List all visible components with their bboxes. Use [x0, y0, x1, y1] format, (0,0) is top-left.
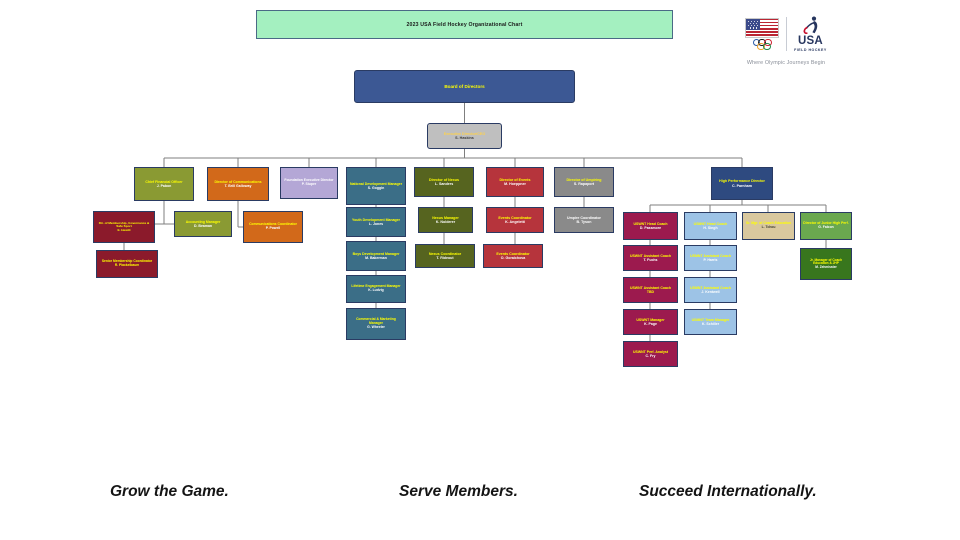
- org-node-person: P. Stuper: [302, 183, 316, 187]
- org-node-nexusc[interactable]: Nexus CoordinatorT. Rideout: [415, 244, 475, 268]
- org-node-board[interactable]: Board of Directors: [354, 70, 575, 103]
- org-node-person: K. Angeletti: [505, 220, 525, 224]
- org-node-mnt1[interactable]: USMNT Head CoachH. Singh: [684, 212, 737, 240]
- org-node-person: O. Goraichova: [501, 256, 526, 260]
- org-node-title: Board of Directors: [444, 84, 484, 89]
- org-node-wnt3[interactable]: USWNT Assistant CoachTBD: [623, 277, 678, 303]
- org-node-person: K. Ludvig: [368, 289, 383, 293]
- org-node-person: G. Falcon: [818, 226, 833, 230]
- org-node-person: D. Passmore: [640, 226, 661, 230]
- tagline-3: Succeed Internationally.: [639, 483, 817, 501]
- org-node-person: S. Rapaport: [574, 182, 594, 186]
- org-node-ceo[interactable]: Executive Director/CEOS. Haskins: [427, 123, 502, 149]
- org-node-person: P. Harris: [704, 258, 718, 262]
- org-node-evc2[interactable]: Events CoordinatorO. Goraichova: [483, 244, 543, 268]
- org-node-wnt5[interactable]: USWNT Perf. AnalystC. Fry: [623, 341, 678, 367]
- org-node-umpc[interactable]: Umpire CoordinatorB. Tyson: [554, 207, 614, 233]
- org-node-person: L. Jones: [369, 222, 383, 226]
- org-node-person: K. Nolderer: [436, 220, 455, 224]
- org-node-person: H. Singh: [703, 226, 717, 230]
- org-node-person: M. Zehmisster: [815, 266, 836, 270]
- org-node-found[interactable]: Foundation Executive DirectorP. Stuper: [280, 167, 338, 199]
- org-node-person: D. Beaman: [194, 224, 212, 228]
- org-node-person: K. Page: [644, 322, 657, 326]
- org-node-wnt1[interactable]: USWNT Head CoachD. Passmore: [623, 212, 678, 240]
- org-node-wnt2[interactable]: USWNT Assistant CoachT. Fuchs: [623, 245, 678, 271]
- org-node-person: C. Parnham: [732, 184, 752, 188]
- org-node-person: C. Fry: [646, 354, 656, 358]
- org-node-life[interactable]: Lifetime Engagement ManagerK. Ludvig: [346, 275, 406, 303]
- org-node-person: S. Goggin: [368, 186, 385, 190]
- org-node-person: TBD: [647, 290, 654, 294]
- org-node-evc1[interactable]: Events CoordinatorK. Angeletti: [486, 207, 544, 233]
- org-node-jhp1[interactable]: Director of Junior High Perf.G. Falcon: [800, 212, 852, 240]
- org-node-memb[interactable]: Dir. of Membership, Governance & Safe Sp…: [93, 211, 155, 243]
- tagline-1: Grow the Game.: [110, 483, 229, 501]
- org-node-nexusm[interactable]: Nexus ManagerK. Nolderer: [418, 207, 473, 233]
- org-node-person: G. Wheeler: [367, 326, 385, 330]
- org-node-comms[interactable]: Director of CommunicationsT. Brill Gallo…: [207, 167, 269, 201]
- org-node-commkt[interactable]: Commercial & Marketing ManagerG. Wheeler: [346, 308, 406, 340]
- org-node-coached[interactable]: Sr. Mgr. of Coach EducationL. Tchou: [742, 212, 795, 240]
- org-node-mnt4[interactable]: USMNT Team ManagerK. Schiller: [684, 309, 737, 335]
- org-node-acct[interactable]: Accounting ManagerD. Beaman: [174, 211, 232, 237]
- org-node-srmemb[interactable]: Senior Membership CoordinatorR. Plackelb…: [96, 250, 158, 278]
- org-node-nexus[interactable]: Director of NexusL. Sanders: [414, 167, 474, 197]
- org-chart-nodes: Board of DirectorsExecutive Director/CEO…: [0, 0, 960, 540]
- org-node-person: M. Hoeppner: [504, 182, 526, 186]
- org-node-mnt2[interactable]: USMNT Assistant CoachP. Harris: [684, 245, 737, 271]
- org-node-person: S. Haskins: [455, 136, 474, 140]
- org-node-youth[interactable]: Youth Development ManagerL. Jones: [346, 207, 406, 237]
- org-node-person: K. Schiller: [702, 322, 719, 326]
- org-node-person: L. Tchou: [762, 226, 776, 230]
- org-node-person: T. Fuchs: [643, 258, 657, 262]
- org-node-person: E. Hewitt: [117, 229, 130, 233]
- org-node-jhp2[interactable]: Jr. Manager of Coach Education & JHPM. Z…: [800, 248, 852, 280]
- org-node-events[interactable]: Director of EventsM. Hoeppner: [486, 167, 544, 197]
- org-node-person: J. Pabon: [157, 184, 172, 188]
- org-node-person: L. Sanders: [435, 182, 453, 186]
- org-node-commsc[interactable]: Communications CoordinatorP. Powell: [243, 211, 303, 243]
- org-node-cfo[interactable]: Chief Financial OfficerJ. Pabon: [134, 167, 194, 201]
- org-node-person: T. Rideout: [436, 256, 453, 260]
- org-node-person: T. Brill Galloway: [225, 184, 252, 188]
- tagline-2: Serve Members.: [399, 483, 518, 501]
- org-node-natdev[interactable]: National Development ManagerS. Goggin: [346, 167, 406, 205]
- org-node-person: J. Kentwell: [701, 290, 719, 294]
- org-node-wnt4[interactable]: USWNT ManagerK. Page: [623, 309, 678, 335]
- org-node-ump[interactable]: Director of UmpiringS. Rapaport: [554, 167, 614, 197]
- org-node-person: B. Tyson: [577, 220, 592, 224]
- org-node-person: M. Bakerman: [365, 256, 387, 260]
- org-node-mnt3[interactable]: USMNT Assistant CoachJ. Kentwell: [684, 277, 737, 303]
- org-node-person: R. Plackelbaum: [115, 264, 139, 268]
- org-node-person: P. Powell: [266, 227, 280, 231]
- org-node-hp[interactable]: High Performance DirectorC. Parnham: [711, 167, 773, 200]
- org-chart-slide: 2023 USA Field Hockey Organizational Cha…: [0, 0, 960, 540]
- org-node-boys[interactable]: Boys Development ManagerM. Bakerman: [346, 241, 406, 271]
